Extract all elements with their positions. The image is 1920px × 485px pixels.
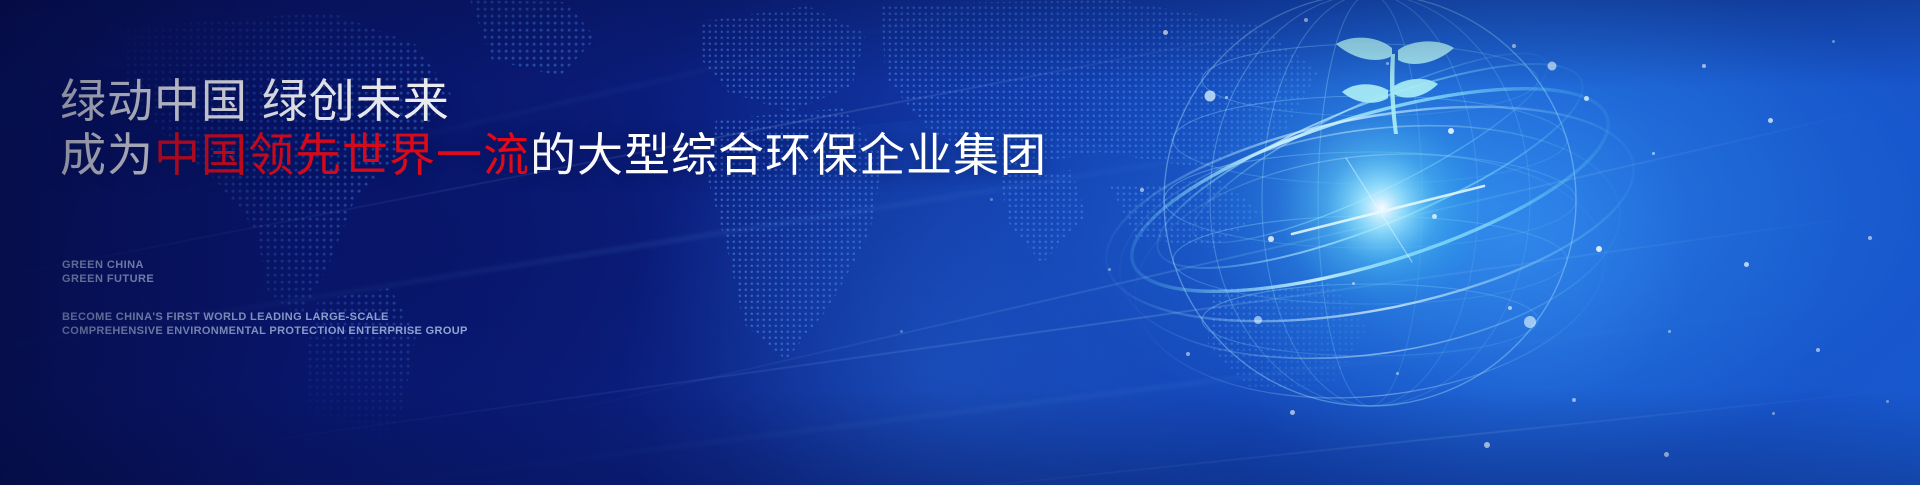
description-line-1: BECOME CHINA'S FIRST WORLD LEADING LARGE… [62, 311, 468, 325]
description-line-2: COMPREHENSIVE ENVIRONMENTAL PROTECTION E… [62, 325, 468, 339]
slogan-line-1: GREEN CHINA [62, 258, 154, 272]
english-description: BECOME CHINA'S FIRST WORLD LEADING LARGE… [62, 311, 468, 338]
headline-highlight: 中国领先世界一流 [154, 129, 530, 181]
hero-banner: 绿动中国 绿创未来 成为中国领先世界一流的大型综合环保企业集团 GREEN CH… [0, 0, 1920, 485]
ambient-glow-right [1200, 0, 1840, 485]
banner-copy: 绿动中国 绿创未来 成为中国领先世界一流的大型综合环保企业集团 GREEN CH… [60, 0, 1060, 485]
page-title: 绿动中国 绿创未来 成为中国领先世界一流的大型综合环保企业集团 [60, 74, 1040, 182]
slogan-line-2: GREEN FUTURE [62, 272, 154, 286]
headline-line-2: 成为中国领先世界一流的大型综合环保企业集团 [60, 128, 1040, 182]
wireframe-globe-icon [1060, 0, 1680, 485]
sprout-leaf-icon [1336, 38, 1454, 134]
english-slogan: GREEN CHINA GREEN FUTURE [62, 258, 154, 286]
headline-prefix: 成为 [60, 129, 154, 181]
headline-suffix: 的大型综合环保企业集团 [530, 129, 1047, 181]
headline-line-1: 绿动中国 绿创未来 [60, 75, 450, 127]
orbital-rings-icon [1089, 23, 1652, 420]
